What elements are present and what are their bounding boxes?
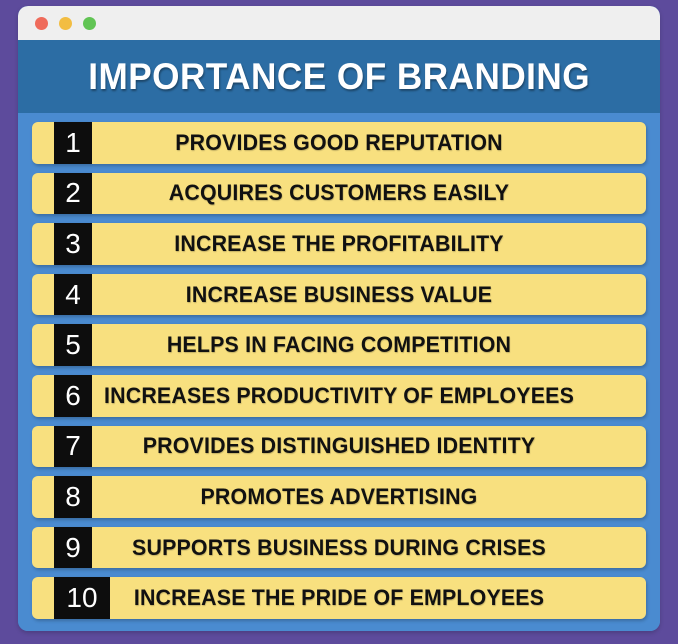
list-item-label: SUPPORTS BUSINESS DURING CRISES <box>41 535 637 561</box>
list-item-label: PROVIDES GOOD REPUTATION <box>41 130 637 156</box>
list-item[interactable]: 3 INCREASE THE PROFITABILITY <box>32 223 646 265</box>
list-item-label: INCREASE THE PROFITABILITY <box>41 231 637 257</box>
close-window-button[interactable] <box>35 17 48 30</box>
list-item[interactable]: 8 PROMOTES ADVERTISING <box>32 476 646 518</box>
list-item-label: PROVIDES DISTINGUISHED IDENTITY <box>41 433 637 459</box>
maximize-window-button[interactable] <box>83 17 96 30</box>
page-header: IMPORTANCE OF BRANDING <box>18 40 660 113</box>
list-item[interactable]: 2 ACQUIRES CUSTOMERS EASILY <box>32 173 646 215</box>
list-item-label: PROMOTES ADVERTISING <box>41 484 637 510</box>
page-title: IMPORTANCE OF BRANDING <box>88 56 590 98</box>
branding-benefits-list: 1 PROVIDES GOOD REPUTATION 2 ACQUIRES CU… <box>18 113 660 631</box>
list-item[interactable]: 9 SUPPORTS BUSINESS DURING CRISES <box>32 527 646 569</box>
list-item[interactable]: 1 PROVIDES GOOD REPUTATION <box>32 122 646 164</box>
list-item[interactable]: 5 HELPS IN FACING COMPETITION <box>32 324 646 366</box>
browser-window: IMPORTANCE OF BRANDING 1 PROVIDES GOOD R… <box>18 6 660 631</box>
minimize-window-button[interactable] <box>59 17 72 30</box>
list-item[interactable]: 10 INCREASE THE PRIDE OF EMPLOYEES <box>32 577 646 619</box>
window-titlebar <box>18 6 660 40</box>
list-item-label: INCREASE THE PRIDE OF EMPLOYEES <box>41 585 637 611</box>
list-item-label: INCREASE BUSINESS VALUE <box>41 282 637 308</box>
list-item[interactable]: 4 INCREASE BUSINESS VALUE <box>32 274 646 316</box>
list-item[interactable]: 7 PROVIDES DISTINGUISHED IDENTITY <box>32 426 646 468</box>
list-item[interactable]: 6 INCREASES PRODUCTIVITY OF EMPLOYEES <box>32 375 646 417</box>
list-item-label: INCREASES PRODUCTIVITY OF EMPLOYEES <box>41 383 637 409</box>
list-item-label: ACQUIRES CUSTOMERS EASILY <box>41 180 637 206</box>
list-item-label: HELPS IN FACING COMPETITION <box>41 332 637 358</box>
